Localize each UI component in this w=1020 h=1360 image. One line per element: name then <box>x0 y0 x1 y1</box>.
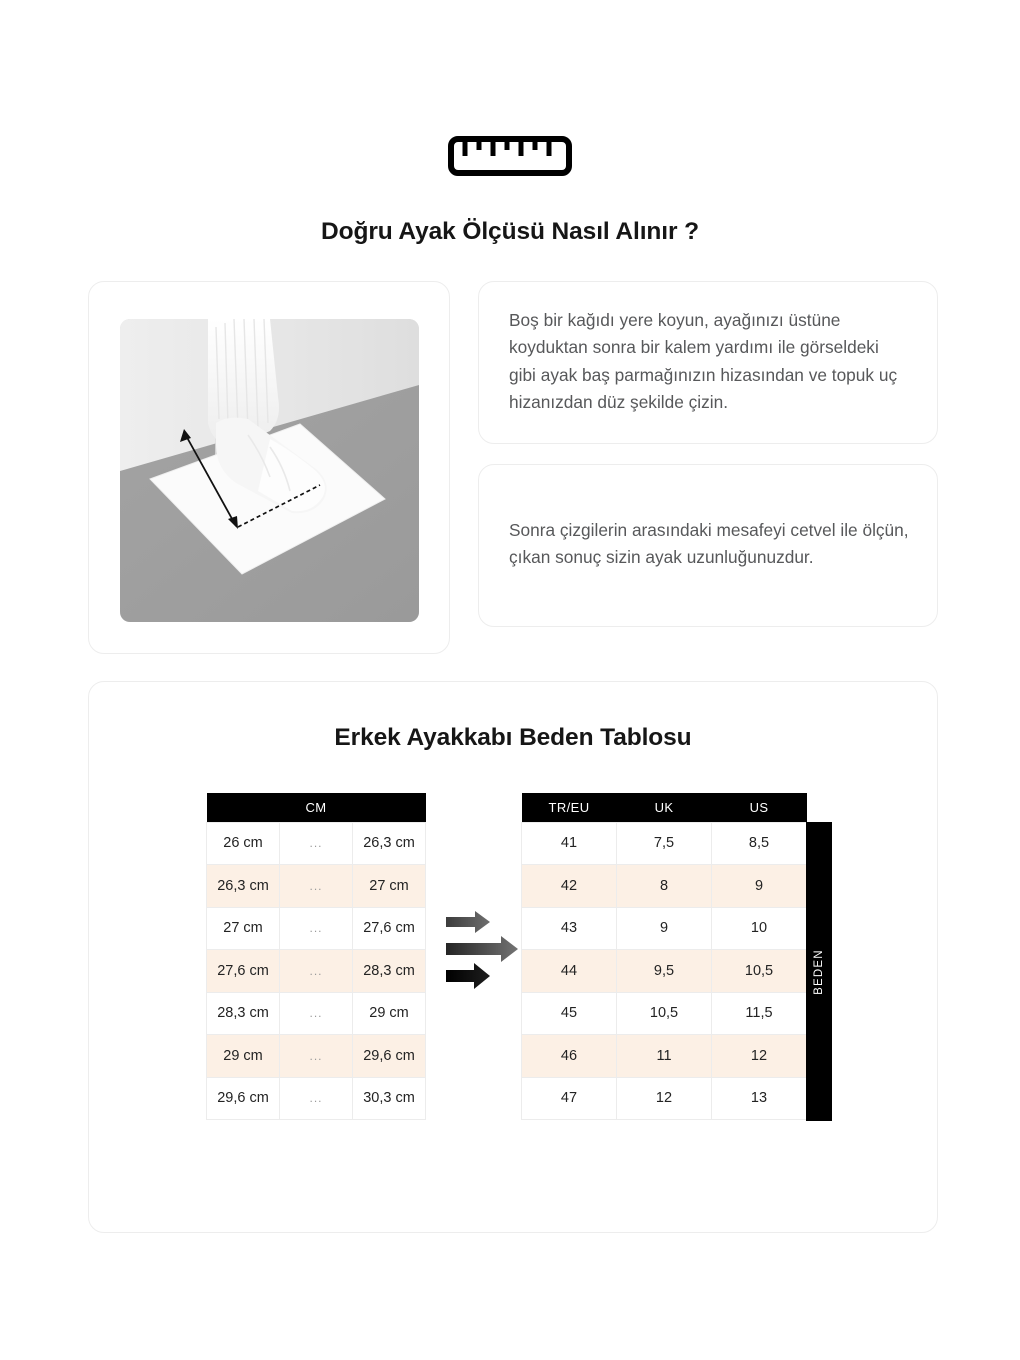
cm-low-value: 27,6 cm <box>207 950 280 993</box>
cm-separator: ... <box>280 822 353 865</box>
size-header-uk: UK <box>617 793 712 822</box>
cm-table: CM 26 cm ... 26,3 cm 26,3 cm ... 27 cm <box>206 793 426 1120</box>
size-table-header-row: TR/EU UK US <box>522 793 807 822</box>
size-cell-us: 8,5 <box>712 822 807 865</box>
size-cell-us: 13 <box>712 1077 807 1120</box>
table-row: 45 10,5 11,5 <box>522 992 807 1035</box>
size-table-wrap: TR/EU UK US 41 7,5 8,5 42 8 <box>521 793 831 1123</box>
foot-measurement-photo <box>120 319 419 622</box>
table-row: 27,6 cm ... 28,3 cm <box>207 950 426 993</box>
cm-low-value: 26,3 cm <box>207 865 280 908</box>
size-guide-page: Doğru Ayak Ölçüsü Nasıl Alınır ? <box>0 0 1020 1360</box>
cm-low-value: 29,6 cm <box>207 1077 280 1120</box>
size-cell-tr-eu: 44 <box>522 950 617 993</box>
cm-high-value: 27 cm <box>353 865 426 908</box>
table-row: 46 11 12 <box>522 1035 807 1078</box>
cm-low-value: 26 cm <box>207 822 280 865</box>
table-row: 41 7,5 8,5 <box>522 822 807 865</box>
size-header-tr-eu: TR/EU <box>522 793 617 822</box>
table-row: 28,3 cm ... 29 cm <box>207 992 426 1035</box>
ruler-icon <box>448 136 572 176</box>
beden-side-label-text: BEDEN <box>813 949 825 995</box>
size-cell-tr-eu: 41 <box>522 822 617 865</box>
size-cell-uk: 12 <box>617 1077 712 1120</box>
instruction-text-2: Sonra çizgilerin arasındaki mesafeyi cet… <box>509 517 909 572</box>
cm-header-cell: CM <box>207 793 426 822</box>
size-header-us: US <box>712 793 807 822</box>
size-cell-tr-eu: 45 <box>522 992 617 1035</box>
foot-photo-card <box>88 281 450 654</box>
cm-table-body: 26 cm ... 26,3 cm 26,3 cm ... 27 cm 27 c… <box>207 822 426 1120</box>
cm-high-value: 26,3 cm <box>353 822 426 865</box>
size-cell-us: 12 <box>712 1035 807 1078</box>
cm-high-value: 28,3 cm <box>353 950 426 993</box>
table-row: 29,6 cm ... 30,3 cm <box>207 1077 426 1120</box>
size-cell-uk: 7,5 <box>617 822 712 865</box>
table-row: 27 cm ... 27,6 cm <box>207 907 426 950</box>
three-right-arrows-icon <box>438 910 528 1000</box>
tables-zone: CM 26 cm ... 26,3 cm 26,3 cm ... 27 cm <box>89 793 939 1123</box>
instruction-text-1: Boş bir kağıdı yere koyun, ayağınızı üst… <box>509 307 909 416</box>
size-cell-tr-eu: 43 <box>522 907 617 950</box>
size-chart-title: Erkek Ayakkabı Beden Tablosu <box>89 724 937 752</box>
cm-low-value: 29 cm <box>207 1035 280 1078</box>
table-row: 29 cm ... 29,6 cm <box>207 1035 426 1078</box>
cm-separator: ... <box>280 1077 353 1120</box>
table-row: 26,3 cm ... 27 cm <box>207 865 426 908</box>
size-cell-uk: 9 <box>617 907 712 950</box>
table-row: 42 8 9 <box>522 865 807 908</box>
cm-high-value: 27,6 cm <box>353 907 426 950</box>
instruction-card-1: Boş bir kağıdı yere koyun, ayağınızı üst… <box>478 281 938 444</box>
cm-low-value: 28,3 cm <box>207 992 280 1035</box>
size-cell-uk: 11 <box>617 1035 712 1078</box>
cm-high-value: 29 cm <box>353 992 426 1035</box>
table-row: 26 cm ... 26,3 cm <box>207 822 426 865</box>
cm-table-header-row: CM <box>207 793 426 822</box>
cm-low-value: 27 cm <box>207 907 280 950</box>
size-cell-uk: 8 <box>617 865 712 908</box>
cm-separator: ... <box>280 865 353 908</box>
cm-separator: ... <box>280 992 353 1035</box>
size-cell-us: 10 <box>712 907 807 950</box>
beden-side-label: BEDEN <box>806 822 832 1121</box>
size-cell-tr-eu: 47 <box>522 1077 617 1120</box>
size-cell-uk: 10,5 <box>617 992 712 1035</box>
size-cell-us: 11,5 <box>712 992 807 1035</box>
size-cell-us: 9 <box>712 865 807 908</box>
cm-separator: ... <box>280 1035 353 1078</box>
cm-separator: ... <box>280 907 353 950</box>
cm-high-value: 30,3 cm <box>353 1077 426 1120</box>
page-title: Doğru Ayak Ölçüsü Nasıl Alınır ? <box>0 218 1020 246</box>
size-cell-uk: 9,5 <box>617 950 712 993</box>
table-row: 43 9 10 <box>522 907 807 950</box>
cm-separator: ... <box>280 950 353 993</box>
table-row: 44 9,5 10,5 <box>522 950 807 993</box>
size-cell-tr-eu: 46 <box>522 1035 617 1078</box>
size-cell-tr-eu: 42 <box>522 865 617 908</box>
size-chart-card: Erkek Ayakkabı Beden Tablosu CM 26 cm ..… <box>88 681 938 1233</box>
size-cell-us: 10,5 <box>712 950 807 993</box>
size-table-body: 41 7,5 8,5 42 8 9 43 9 10 <box>522 822 807 1120</box>
size-table: TR/EU UK US 41 7,5 8,5 42 8 <box>521 793 807 1120</box>
cm-high-value: 29,6 cm <box>353 1035 426 1078</box>
table-row: 47 12 13 <box>522 1077 807 1120</box>
ruler-icon-container <box>0 136 1020 176</box>
instruction-card-2: Sonra çizgilerin arasındaki mesafeyi cet… <box>478 464 938 627</box>
